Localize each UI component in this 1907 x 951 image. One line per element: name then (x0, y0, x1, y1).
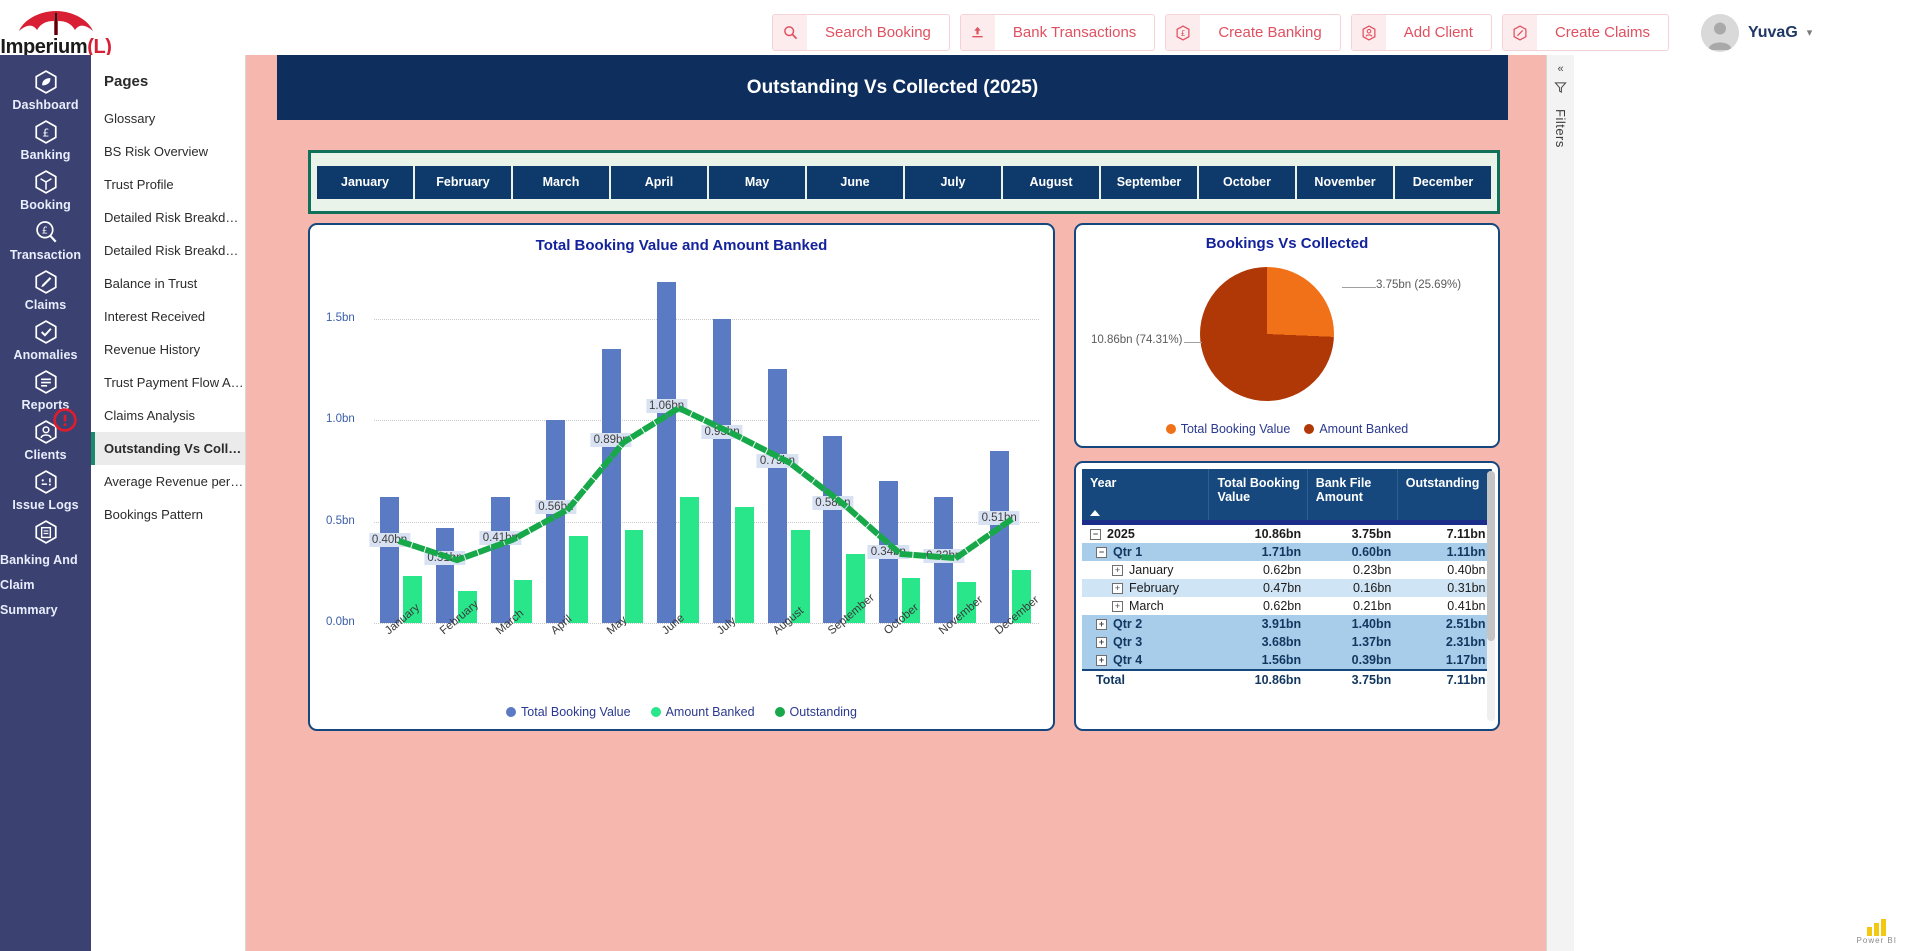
expand-icon[interactable]: + (1112, 583, 1123, 594)
expand-icon[interactable]: + (1096, 619, 1107, 630)
list-hex-icon (33, 369, 59, 395)
table-row[interactable]: +Qtr 41.56bn0.39bn1.17bn (1082, 651, 1492, 670)
bar-group[interactable]: 0.58bnSeptember (817, 268, 872, 623)
legend-label: Outstanding (790, 705, 857, 719)
pages-title: Pages (91, 65, 245, 102)
table-header-row: Year Total Booking Value Bank File Amoun… (1082, 469, 1492, 520)
slicer-month-december[interactable]: December (1395, 166, 1491, 199)
row-label: Qtr 3 (1113, 635, 1142, 649)
row-label-cell[interactable]: +Qtr 4 (1082, 651, 1209, 670)
table-row[interactable]: +February0.47bn0.16bn0.31bn (1082, 579, 1492, 597)
pie-chart-legend: Total Booking ValueAmount Banked (1076, 422, 1498, 436)
data-label: 0.89bn (591, 433, 632, 447)
table-row[interactable]: +March0.62bn0.21bn0.41bn (1082, 597, 1492, 615)
cell-outstanding: 0.31bn (1397, 579, 1491, 597)
sidebar-label-clients: Clients (24, 448, 66, 462)
cell-outstanding: 0.41bn (1397, 597, 1491, 615)
table-total-row: Total10.86bn3.75bn7.11bn (1082, 670, 1492, 689)
filters-rail[interactable]: « Filters (1546, 55, 1574, 951)
expand-icon[interactable]: + (1112, 601, 1123, 612)
sidebar-item-claims[interactable]: Claims (0, 269, 91, 312)
bar-amount-banked[interactable] (680, 497, 699, 623)
data-label: 0.79bn (757, 454, 798, 468)
matrix-table-card: Year Total Booking Value Bank File Amoun… (1074, 461, 1500, 731)
bank-transactions-button[interactable]: Bank Transactions (960, 14, 1155, 51)
row-label: February (1129, 581, 1179, 595)
row-label-cell[interactable]: +February (1082, 579, 1209, 597)
cell-bank-file-amount: 1.37bn (1307, 633, 1397, 651)
row-label: January (1129, 563, 1173, 577)
bar-group[interactable]: 0.56bnApril (540, 268, 595, 623)
create-banking-button[interactable]: £ Create Banking (1165, 14, 1340, 51)
bar-group[interactable]: 0.93bnJuly (707, 268, 762, 623)
report-canvas: Outstanding Vs Collected (2025) JanuaryF… (246, 55, 1546, 951)
legend-dot (1304, 424, 1314, 434)
face-hex-icon (33, 469, 59, 495)
bar-group[interactable]: 0.32bnNovember (928, 268, 983, 623)
pie-chart[interactable] (1200, 267, 1334, 401)
slicer-month-october[interactable]: October (1199, 166, 1295, 199)
bar-chart-legend: Total Booking ValueAmount BankedOutstand… (310, 705, 1053, 719)
cell-total-booking-value: 0.62bn (1209, 597, 1307, 615)
legend-item-outstanding[interactable]: Outstanding (775, 705, 857, 719)
powerbi-label: Power BI (1857, 936, 1897, 945)
sidebar-item-dashboard[interactable]: Dashboard (0, 69, 91, 112)
sidebar-item-anomalies[interactable]: Anomalies (0, 319, 91, 362)
cell-total-booking-value: 3.68bn (1209, 633, 1307, 651)
cell-total-booking-value: 0.47bn (1209, 579, 1307, 597)
matrix-scrollbar-thumb[interactable] (1487, 471, 1495, 641)
slicer-month-may[interactable]: May (709, 166, 805, 199)
column-header-outstanding[interactable]: Outstanding (1397, 469, 1491, 520)
data-label: 0.32bn (923, 549, 964, 563)
pie-legend-item-total-booking-value[interactable]: Total Booking Value (1166, 422, 1291, 436)
pound-hex-icon: £ (1166, 15, 1200, 50)
sidebar-label-dashboard: Dashboard (12, 98, 78, 112)
page-item-trust-profile[interactable]: Trust Profile (91, 168, 245, 201)
cube-hex-icon (33, 69, 59, 95)
legend-label: Total Booking Value (1181, 422, 1291, 436)
user-hex-icon (1352, 15, 1386, 50)
add-client-label: Add Client (1386, 24, 1491, 41)
pie-leader-line-1 (1342, 287, 1376, 288)
slicer-month-february[interactable]: February (415, 166, 511, 199)
add-client-button[interactable]: Add Client (1351, 14, 1492, 51)
y-axis-tick: 0.5bn (326, 515, 370, 527)
pie-leader-line-2 (1184, 342, 1202, 343)
bar-group[interactable]: 0.51bnDecember (984, 268, 1039, 623)
upload-icon (961, 15, 995, 50)
cell-total-booking-value: 1.56bn (1209, 651, 1307, 670)
legend-dot (506, 707, 516, 717)
bar-group[interactable]: 1.06bnJune (651, 268, 706, 623)
data-label: 0.41bn (480, 531, 521, 545)
gridline (374, 623, 1039, 624)
slicer-month-november[interactable]: November (1297, 166, 1393, 199)
canvas-left-margin (246, 55, 276, 951)
pie-legend-item-amount-banked[interactable]: Amount Banked (1304, 422, 1408, 436)
matrix-table: Year Total Booking Value Bank File Amoun… (1082, 469, 1492, 689)
sidebar-item-transaction[interactable]: £ Transaction (0, 219, 91, 262)
legend-label: Total Booking Value (521, 705, 631, 719)
bar-chart-plot: 0.0bn0.5bn1.0bn1.5bn0.40bnJanuary0.31bnF… (374, 268, 1039, 653)
bar-total-booking-value[interactable] (380, 497, 399, 623)
cell-outstanding: 0.40bn (1397, 561, 1491, 579)
data-label: 0.51bn (979, 511, 1020, 525)
slicer-month-march[interactable]: March (513, 166, 609, 199)
search-booking-button[interactable]: Search Booking (772, 14, 950, 51)
page-item-claims-analysis[interactable]: Claims Analysis (91, 399, 245, 432)
data-label: 0.31bn (424, 551, 465, 565)
page-item-bs-risk-overview[interactable]: BS Risk Overview (91, 135, 245, 168)
bar-total-booking-value[interactable] (823, 436, 842, 623)
row-label-cell[interactable]: +Qtr 2 (1082, 615, 1209, 633)
bar-chart-title: Total Booking Value and Amount Banked (310, 237, 1053, 254)
slicer-month-april[interactable]: April (611, 166, 707, 199)
sidebar-label-banking-and-claim-summary: Banking And Claim Summary (0, 548, 91, 623)
bar-group[interactable]: 0.41bnMarch (485, 268, 540, 623)
bar-amount-banked[interactable] (625, 530, 644, 623)
page-item-interest-received[interactable]: Interest Received (91, 300, 245, 333)
box-hex-icon (33, 169, 59, 195)
slicer-month-june[interactable]: June (807, 166, 903, 199)
left-nav-rail: Dashboard £ Banking Booking £ Transactio… (0, 55, 91, 951)
row-label: 2025 (1107, 527, 1135, 541)
search-icon (773, 15, 807, 50)
data-label: 0.34bn (868, 545, 909, 559)
y-axis-tick: 1.0bn (326, 413, 370, 425)
bar-total-booking-value[interactable] (436, 528, 455, 623)
create-banking-label: Create Banking (1200, 24, 1339, 41)
search-booking-label: Search Booking (807, 24, 949, 41)
cell-total-booking-value: 0.62bn (1209, 561, 1307, 579)
page-item-detailed-risk-breakdown-2[interactable]: Detailed Risk Breakdow... (91, 234, 245, 267)
cell-outstanding: 1.11bn (1397, 543, 1491, 561)
brand-logo[interactable]: Imperium(L) (0, 9, 112, 57)
edit-hex-icon (33, 269, 59, 295)
column-header-bank-file-amount[interactable]: Bank File Amount (1307, 469, 1397, 520)
create-claims-label: Create Claims (1537, 24, 1668, 41)
cell-outstanding: 1.17bn (1397, 651, 1491, 670)
y-axis-tick: 0.0bn (326, 616, 370, 628)
sidebar-item-banking[interactable]: £ Banking (0, 119, 91, 162)
sidebar-item-banking-and-claim-summary[interactable]: Banking And Claim Summary (0, 519, 91, 623)
powerbi-bars-icon (1857, 919, 1897, 936)
row-label: Qtr 2 (1113, 617, 1142, 631)
sidebar-item-reports[interactable]: Reports (0, 369, 91, 412)
cell-bank-file-amount: 3.75bn (1307, 525, 1397, 543)
bar-total-booking-value[interactable] (768, 369, 787, 623)
sidebar-label-claims: Claims (25, 298, 67, 312)
alert-icon (52, 407, 78, 438)
clipboard-hex-icon (33, 519, 59, 545)
cell-total-booking-value: 10.86bn (1209, 670, 1307, 689)
username-label: YuvaG (1748, 24, 1798, 42)
page-item-balance-in-trust[interactable]: Balance in Trust (91, 267, 245, 300)
bar-total-booking-value[interactable] (602, 349, 621, 623)
table-row[interactable]: +Qtr 23.91bn1.40bn2.51bn (1082, 615, 1492, 633)
bar-group[interactable]: 0.79bnAugust (762, 268, 817, 623)
data-label: 0.40bn (369, 533, 410, 547)
legend-item-total-booking-value[interactable]: Total Booking Value (506, 705, 631, 719)
page-item-revenue-history[interactable]: Revenue History (91, 333, 245, 366)
bar-total-booking-value[interactable] (657, 282, 676, 623)
page-item-detailed-risk-breakdown-1[interactable]: Detailed Risk Breakdow... (91, 201, 245, 234)
row-label: Qtr 1 (1113, 545, 1142, 559)
legend-dot (775, 707, 785, 717)
cell-bank-file-amount: 0.23bn (1307, 561, 1397, 579)
collapse-icon[interactable]: − (1090, 529, 1101, 540)
page-title: Outstanding Vs Collected (2025) (747, 77, 1038, 99)
table-row[interactable]: −Qtr 11.71bn0.60bn1.11bn (1082, 543, 1492, 561)
bar-group[interactable]: 0.31bnFebruary (429, 268, 484, 623)
bar-chart-card: Total Booking Value and Amount Banked 0.… (308, 223, 1055, 731)
slicer-month-august[interactable]: August (1003, 166, 1099, 199)
expand-icon[interactable]: + (1096, 655, 1107, 666)
bar-amount-banked[interactable] (569, 536, 588, 623)
data-label: 0.56bn (535, 500, 576, 514)
sidebar-label-issue-logs: Issue Logs (12, 498, 78, 512)
sidebar-item-clients[interactable]: Clients (0, 419, 91, 462)
data-label: 1.06bn (646, 399, 687, 413)
cell-outstanding: 2.51bn (1397, 615, 1491, 633)
cell-total-label: Total (1082, 670, 1209, 689)
svg-text:£: £ (42, 126, 49, 139)
check-hex-icon (33, 319, 59, 345)
sidebar-item-booking[interactable]: Booking (0, 169, 91, 212)
top-nav: Search Booking Bank Transactions £ Creat… (772, 14, 1812, 52)
funnel-icon (1554, 81, 1567, 99)
svg-text:£: £ (1181, 29, 1186, 38)
sidebar-label-anomalies: Anomalies (13, 348, 77, 362)
svg-text:£: £ (41, 226, 47, 237)
row-label-cell[interactable]: −Qtr 1 (1082, 543, 1209, 561)
sidebar-label-transaction: Transaction (10, 248, 81, 262)
user-menu[interactable]: YuvaG ▾ (1701, 14, 1812, 52)
collapse-icon[interactable]: − (1096, 547, 1107, 558)
bar-series-container: 0.40bnJanuary0.31bnFebruary0.41bnMarch0.… (374, 268, 1039, 623)
brand-name: Imperium(L) (0, 37, 111, 57)
page-item-average-revenue-per-partner[interactable]: Average Revenue per Pa... (91, 465, 245, 498)
slicer-month-july[interactable]: July (905, 166, 1001, 199)
row-label-cell[interactable]: +Qtr 3 (1082, 633, 1209, 651)
cell-bank-file-amount: 0.39bn (1307, 651, 1397, 670)
y-axis-tick: 1.5bn (326, 312, 370, 324)
pages-panel: Pages Glossary BS Risk Overview Trust Pr… (91, 55, 246, 951)
bank-transactions-label: Bank Transactions (995, 24, 1154, 41)
bar-group[interactable]: 0.34bnOctober (873, 268, 928, 623)
pound-search-icon: £ (33, 219, 59, 245)
pound-hex-icon: £ (33, 119, 59, 145)
bar-group[interactable]: 0.89bnMay (596, 268, 651, 623)
chevron-down-icon[interactable]: ▾ (1807, 26, 1813, 39)
filters-pane: « Filters Power BI (1546, 55, 1907, 951)
pie-chart-title: Bookings Vs Collected (1076, 235, 1498, 252)
avatar (1701, 14, 1739, 52)
cell-bank-file-amount: 1.40bn (1307, 615, 1397, 633)
cell-outstanding: 2.31bn (1397, 633, 1491, 651)
matrix-scrollbar[interactable] (1487, 471, 1495, 721)
data-label: 0.93bn (701, 425, 742, 439)
sidebar-label-banking: Banking (20, 148, 70, 162)
row-label: Qtr 4 (1113, 653, 1142, 667)
cell-bank-file-amount: 0.21bn (1307, 597, 1397, 615)
row-label: March (1129, 599, 1164, 613)
sidebar-item-issue-logs[interactable]: Issue Logs (0, 469, 91, 512)
legend-label: Amount Banked (666, 705, 755, 719)
column-header-year[interactable]: Year (1082, 469, 1209, 520)
cell-outstanding: 7.11bn (1397, 670, 1491, 689)
powerbi-logo: Power BI (1857, 919, 1897, 945)
row-label-cell[interactable]: −2025 (1082, 525, 1209, 543)
page-item-bookings-pattern[interactable]: Bookings Pattern (91, 498, 245, 531)
create-claims-button[interactable]: Create Claims (1502, 14, 1669, 51)
table-row[interactable]: +Qtr 33.68bn1.37bn2.31bn (1082, 633, 1492, 651)
cell-total-booking-value: 1.71bn (1209, 543, 1307, 561)
slicer-month-january[interactable]: January (317, 166, 413, 199)
cell-total-booking-value: 10.86bn (1209, 525, 1307, 543)
sidebar-label-booking: Booking (20, 198, 71, 212)
bar-amount-banked[interactable] (735, 507, 754, 623)
expand-icon[interactable]: + (1112, 565, 1123, 576)
bar-total-booking-value[interactable] (713, 319, 732, 623)
bar-total-booking-value[interactable] (990, 451, 1009, 623)
month-slicer: JanuaryFebruaryMarchAprilMayJuneJulyAugu… (308, 150, 1500, 214)
chevron-left-icon[interactable]: « (1557, 63, 1563, 75)
data-label: 0.58bn (812, 496, 853, 510)
bar-total-booking-value[interactable] (491, 497, 510, 623)
legend-dot (651, 707, 661, 717)
column-header-total-booking-value[interactable]: Total Booking Value (1209, 469, 1307, 520)
slicer-month-september[interactable]: September (1101, 166, 1197, 199)
report-header: Outstanding Vs Collected (2025) (277, 55, 1508, 120)
expand-icon[interactable]: + (1096, 637, 1107, 648)
page-item-outstanding-vs-collected[interactable]: Outstanding Vs Collect... (91, 432, 245, 465)
cell-total-booking-value: 3.91bn (1209, 615, 1307, 633)
legend-label: Amount Banked (1319, 422, 1408, 436)
cell-outstanding: 7.11bn (1397, 525, 1491, 543)
cell-bank-file-amount: 0.60bn (1307, 543, 1397, 561)
table-row[interactable]: −202510.86bn3.75bn7.11bn (1082, 525, 1492, 543)
filters-label: Filters (1553, 109, 1568, 148)
pie-chart-card: Bookings Vs Collected 3.75bn (25.69%) 10… (1074, 223, 1500, 448)
edit-hex-icon (1503, 15, 1537, 50)
legend-item-amount-banked[interactable]: Amount Banked (651, 705, 755, 719)
page-item-trust-payment-flow[interactable]: Trust Payment Flow Ana... (91, 366, 245, 399)
pie-label-amount-banked: 10.86bn (74.31%) (1091, 334, 1182, 346)
table-row[interactable]: +January0.62bn0.23bn0.40bn (1082, 561, 1492, 579)
row-label-cell[interactable]: +January (1082, 561, 1209, 579)
page-item-glossary[interactable]: Glossary (91, 102, 245, 135)
column-header-year-label: Year (1090, 476, 1116, 490)
sort-ascending-icon (1090, 510, 1100, 516)
legend-dot (1166, 424, 1176, 434)
cell-bank-file-amount: 0.16bn (1307, 579, 1397, 597)
bar-group[interactable]: 0.40bnJanuary (374, 268, 429, 623)
cell-bank-file-amount: 3.75bn (1307, 670, 1397, 689)
umbrella-icon (13, 9, 99, 37)
row-label-cell[interactable]: +March (1082, 597, 1209, 615)
pie-label-total-booking-value: 3.75bn (25.69%) (1376, 279, 1461, 291)
bar-total-booking-value[interactable] (546, 420, 565, 623)
